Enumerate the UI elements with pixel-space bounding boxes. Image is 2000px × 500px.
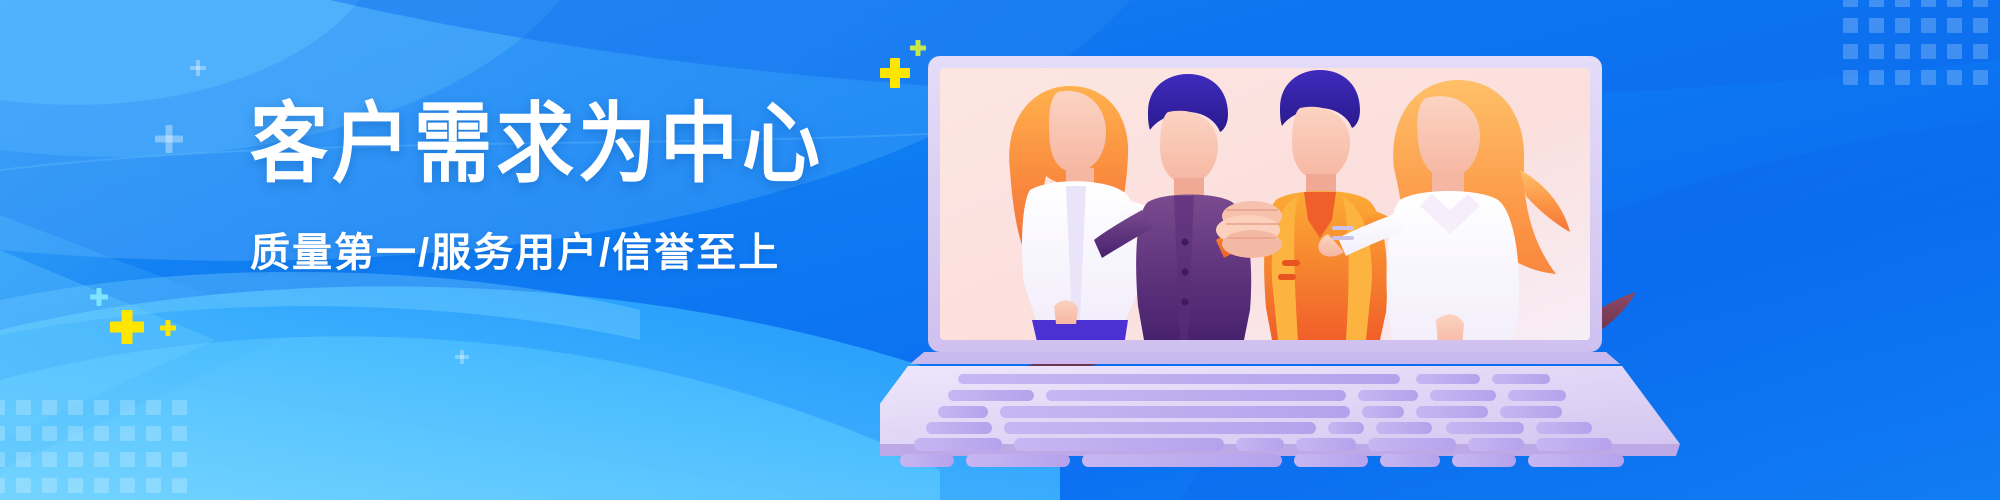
page-subtitle: 质量第一/服务用户/信誉至上 bbox=[250, 178, 850, 278]
plus-yellow-small-left-icon bbox=[160, 320, 176, 336]
laptop-hinge bbox=[910, 352, 1620, 364]
plus-yellow-large-left-icon bbox=[110, 310, 144, 344]
page-title: 客户需求为中心 bbox=[250, 100, 850, 187]
dot-grid-bottom-left bbox=[0, 400, 198, 500]
joined-hands bbox=[1216, 201, 1282, 258]
plus-cyan-left-icon bbox=[90, 288, 108, 306]
teamwork-scene bbox=[1009, 70, 1570, 372]
plus-white-bottom-icon bbox=[455, 350, 469, 364]
laptop-illustration bbox=[880, 20, 1880, 490]
plus-white-lower-icon bbox=[155, 125, 183, 153]
headline-block: 客户需求为中心 质量第一/服务用户/信誉至上 bbox=[250, 100, 850, 278]
banner-root: .dotgrid i{width:15px;height:15px;} 客户需求… bbox=[0, 0, 2000, 500]
plus-white-upper-icon bbox=[190, 60, 206, 76]
